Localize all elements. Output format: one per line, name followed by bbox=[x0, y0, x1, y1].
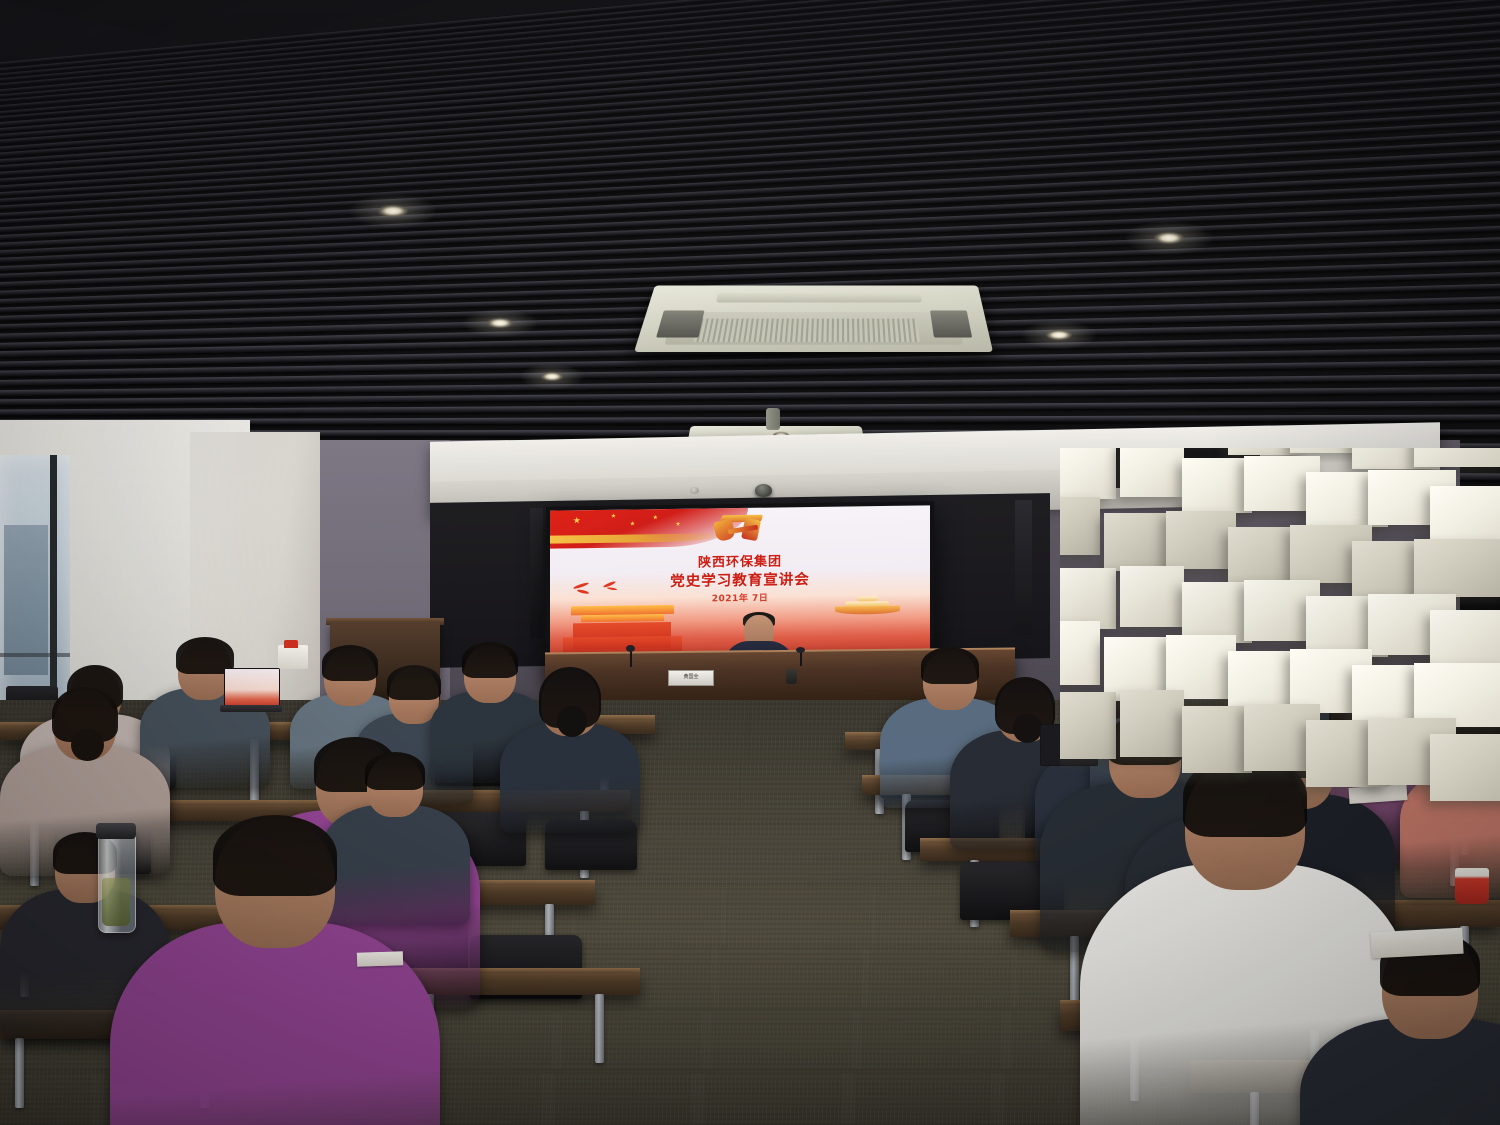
carpet-tile bbox=[840, 1072, 1006, 1125]
notepaper bbox=[357, 951, 403, 967]
laptop-slide-content bbox=[225, 669, 279, 707]
laptop-base-left[interactable] bbox=[220, 705, 282, 712]
wall-speaker-right bbox=[1015, 500, 1032, 635]
wall-cube-panel bbox=[1414, 448, 1500, 467]
wall-cube-panel bbox=[1182, 458, 1252, 513]
carpet-tile bbox=[720, 886, 877, 946]
ceiling-downlight-icon bbox=[1154, 232, 1184, 244]
wall-cube-panel bbox=[1430, 486, 1500, 541]
flag-star-small: ★ bbox=[630, 521, 635, 527]
smoke-detector-icon bbox=[690, 487, 699, 494]
attendee bbox=[500, 670, 640, 846]
ceiling-downlight-icon bbox=[487, 318, 513, 328]
attendee-hair-bun bbox=[71, 729, 103, 761]
laptop-screen-left[interactable] bbox=[224, 668, 280, 708]
ceiling-downlight-icon bbox=[541, 372, 563, 381]
wall-cube-panel bbox=[1060, 568, 1116, 629]
microphone-stem bbox=[630, 651, 632, 667]
wall-cube-panel bbox=[1120, 448, 1184, 497]
attendee-hair bbox=[213, 815, 337, 896]
attendee-hair bbox=[365, 752, 425, 790]
carpet-tile bbox=[700, 1010, 863, 1070]
nameplate: 黄国全 bbox=[668, 670, 714, 686]
carpet-tile bbox=[540, 1072, 706, 1125]
attendee bbox=[110, 818, 440, 1125]
cpc-hammer-sickle-emblem-icon bbox=[710, 512, 775, 545]
tumbler-tea-leaves bbox=[102, 878, 130, 926]
dome-camera-icon bbox=[755, 484, 772, 497]
attendee-torso bbox=[1300, 1018, 1500, 1125]
wall-cube-panel bbox=[1182, 706, 1252, 773]
wall-cube-panel bbox=[1060, 497, 1100, 555]
wall-cube-panel bbox=[1430, 734, 1500, 801]
wall-cube-panel bbox=[1430, 610, 1500, 671]
wall-cube-panel bbox=[1060, 692, 1116, 759]
wall-cube-panel bbox=[1414, 539, 1500, 597]
flag-star-small: ★ bbox=[611, 514, 616, 520]
attendee-torso bbox=[500, 723, 640, 833]
slide-surface: ★ ★ ★ ★ ★ 陕西环保集团 党史学习教育宣讲会 2021年 7日 bbox=[550, 505, 930, 658]
nanhu-red-boat-icon bbox=[835, 596, 900, 616]
carpet-tile bbox=[850, 1010, 1013, 1070]
carpet-tile bbox=[550, 1010, 713, 1070]
flag-star-small: ★ bbox=[675, 522, 680, 528]
wall-speaker-left bbox=[530, 508, 543, 638]
photo-scene: ★ ★ ★ ★ ★ 陕西环保集团 党史学习教育宣讲会 2021年 7日 bbox=[0, 0, 1500, 1125]
ceiling-downlight-icon bbox=[1046, 330, 1072, 340]
wall-cube-panel bbox=[1166, 511, 1236, 569]
carpet-tile bbox=[690, 1072, 856, 1125]
wall-cube-panel bbox=[1104, 513, 1168, 571]
ceiling-downlight-icon bbox=[378, 205, 408, 217]
wall-cube-panel bbox=[1182, 582, 1252, 643]
flag-star-large: ★ bbox=[573, 518, 581, 524]
carpet-tile bbox=[860, 948, 1020, 1008]
attendee-hair-bun bbox=[557, 706, 587, 736]
attendee bbox=[1300, 935, 1500, 1125]
notepaper bbox=[1370, 928, 1463, 959]
wall-cube-panel bbox=[1060, 621, 1100, 685]
ac-cassette-unit-front bbox=[634, 286, 993, 353]
carpet-tile bbox=[730, 824, 884, 884]
wall-cube-panel bbox=[1060, 448, 1116, 499]
microphone-stem bbox=[800, 652, 802, 666]
microphone-head-icon bbox=[796, 647, 805, 653]
tissue-sheet bbox=[284, 640, 298, 648]
carpet-tile bbox=[710, 948, 870, 1008]
red-mug[interactable] bbox=[1455, 868, 1489, 904]
attendee-hair bbox=[921, 647, 979, 684]
tumbler-lid[interactable] bbox=[96, 823, 136, 839]
wall-cube-panel bbox=[1120, 566, 1184, 627]
led-projection-screen[interactable]: ★ ★ ★ ★ ★ 陕西环保集团 党史学习教育宣讲会 2021年 7日 bbox=[546, 501, 934, 662]
microphone-head-icon bbox=[626, 645, 635, 652]
desk-leg bbox=[595, 994, 604, 1063]
tiananmen-gate-icon bbox=[558, 601, 687, 659]
dark-cup bbox=[786, 669, 797, 684]
flag-star-small: ★ bbox=[653, 515, 658, 521]
wall-cube-panel bbox=[1120, 690, 1184, 757]
